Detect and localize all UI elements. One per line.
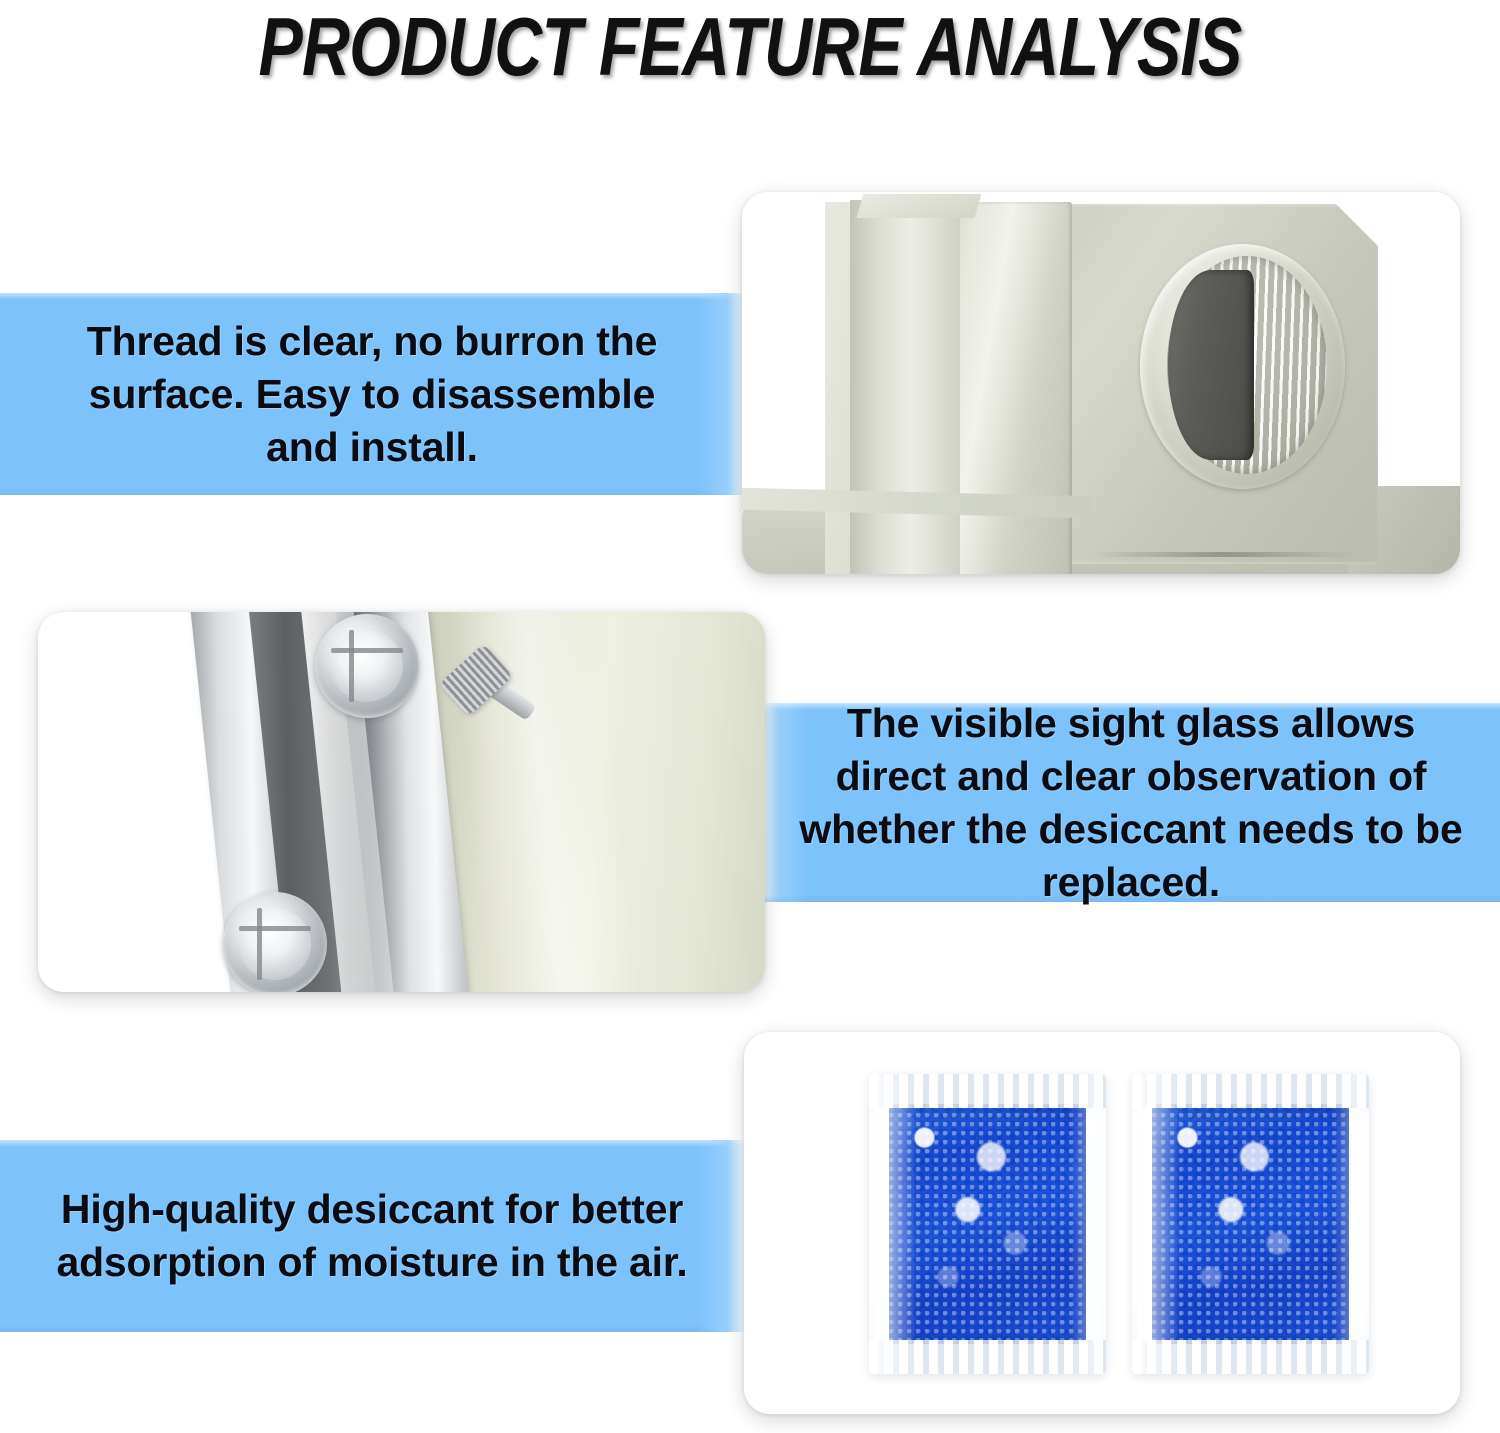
feature-caption-text-thread-quality: Thread is clear, no burron the surface. … <box>62 315 682 474</box>
screw-head-inner <box>239 908 311 980</box>
infographic-root: PRODUCT FEATURE ANALYSIS Thread is clear… <box>0 0 1500 1433</box>
screw-slot-horizontal <box>239 926 311 931</box>
packet-film-sheen-right <box>1333 1074 1363 1374</box>
band-top-edge <box>0 1140 744 1147</box>
feature-photo-card-sight-glass <box>38 612 765 992</box>
feature-caption-band-desiccant-quality: High-quality desiccant for better adsorp… <box>0 1140 744 1332</box>
body-corner-chamfer <box>1336 204 1378 246</box>
sight-glass-closeup-photo <box>38 612 765 992</box>
desiccant-packet-left <box>869 1074 1106 1374</box>
threaded-port-closeup-photo <box>742 192 1460 574</box>
page-title: PRODUCT FEATURE ANALYSIS <box>150 2 1350 92</box>
feature-photo-card-desiccant-quality <box>744 1032 1460 1414</box>
desiccant-packet-right <box>1132 1074 1369 1374</box>
feature-photo-card-thread-quality <box>742 192 1460 574</box>
silica-gel-beads <box>889 1104 1086 1344</box>
band-bottom-edge <box>0 488 744 495</box>
screw-slot-horizontal <box>331 648 403 653</box>
screw-slot-vertical <box>257 908 262 980</box>
upper-block-top-bevel <box>857 194 982 218</box>
screw-head-inner <box>331 630 403 702</box>
port-bore-shadow <box>1168 270 1254 460</box>
feature-caption-band-sight-glass: The visible sight glass allows direct an… <box>762 703 1500 902</box>
base-seam-line <box>1092 552 1354 557</box>
feature-caption-text-sight-glass: The visible sight glass allows direct an… <box>781 697 1481 909</box>
packet-film-sheen-left <box>1138 1074 1180 1374</box>
packet-film-sheen-left <box>875 1074 917 1374</box>
phillips-screw-upper <box>315 614 419 718</box>
screw-slot-vertical <box>349 630 354 702</box>
silica-gel-beads <box>1152 1104 1349 1344</box>
feature-caption-band-thread-quality: Thread is clear, no burron the surface. … <box>0 293 744 495</box>
desiccant-packets-photo <box>744 1032 1460 1414</box>
feature-caption-text-desiccant-quality: High-quality desiccant for better adsorp… <box>42 1183 702 1289</box>
band-bottom-edge <box>0 1325 744 1332</box>
upper-block-front-face <box>850 200 960 574</box>
packet-film-sheen-right <box>1070 1074 1100 1374</box>
phillips-screw-lower <box>223 892 327 992</box>
band-top-edge <box>0 293 744 300</box>
